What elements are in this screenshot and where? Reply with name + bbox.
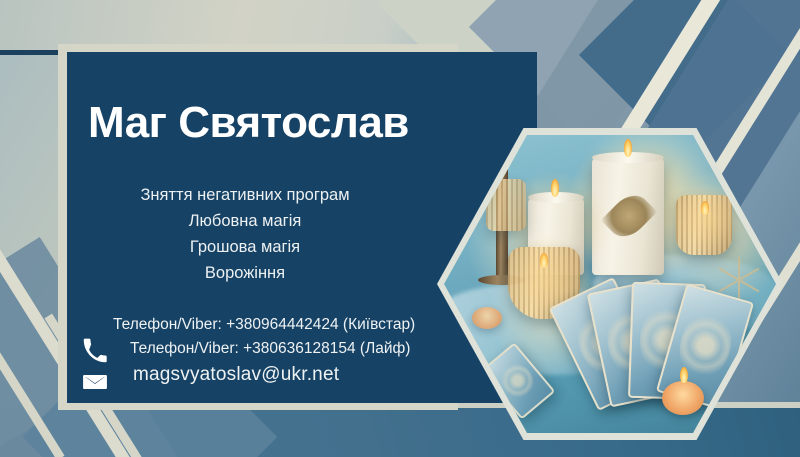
service-item-1: Зняття негативних програм xyxy=(70,182,420,208)
services-list: Зняття негативних програм Любовна магія … xyxy=(70,182,420,286)
photo-candle-ornament xyxy=(601,188,658,245)
contact-phone-1[interactable]: Телефон/Viber: +380964442424 (Київстар) xyxy=(80,316,480,340)
photo-flame-center xyxy=(540,253,548,268)
hexagon-photo-image xyxy=(444,135,776,433)
photo-tealight-bottom xyxy=(662,381,704,415)
page-title: Маг Святослав xyxy=(88,98,488,148)
photo-flame-large xyxy=(624,139,632,157)
photo-flame-mid xyxy=(551,179,559,197)
service-item-3: Грошова магія xyxy=(70,234,420,260)
decorative-cream-line-5 xyxy=(0,244,65,457)
photo-flame-right xyxy=(701,201,709,215)
contact-email[interactable]: magsvyatoslav@ukr.net xyxy=(80,364,480,388)
hexagon-photo xyxy=(437,128,783,440)
photo-glow-right xyxy=(672,183,744,255)
business-card: Маг Святослав Зняття негативних програм … xyxy=(0,0,800,457)
service-item-4: Ворожіння xyxy=(70,260,420,286)
contact-block: Телефон/Viber: +380964442424 (Київстар) … xyxy=(80,316,480,388)
contact-phone-2[interactable]: Телефон/Viber: +380636128154 (Лайф) xyxy=(80,340,480,364)
service-item-2: Любовна магія xyxy=(70,208,420,234)
photo-flame-bottom xyxy=(680,367,688,383)
